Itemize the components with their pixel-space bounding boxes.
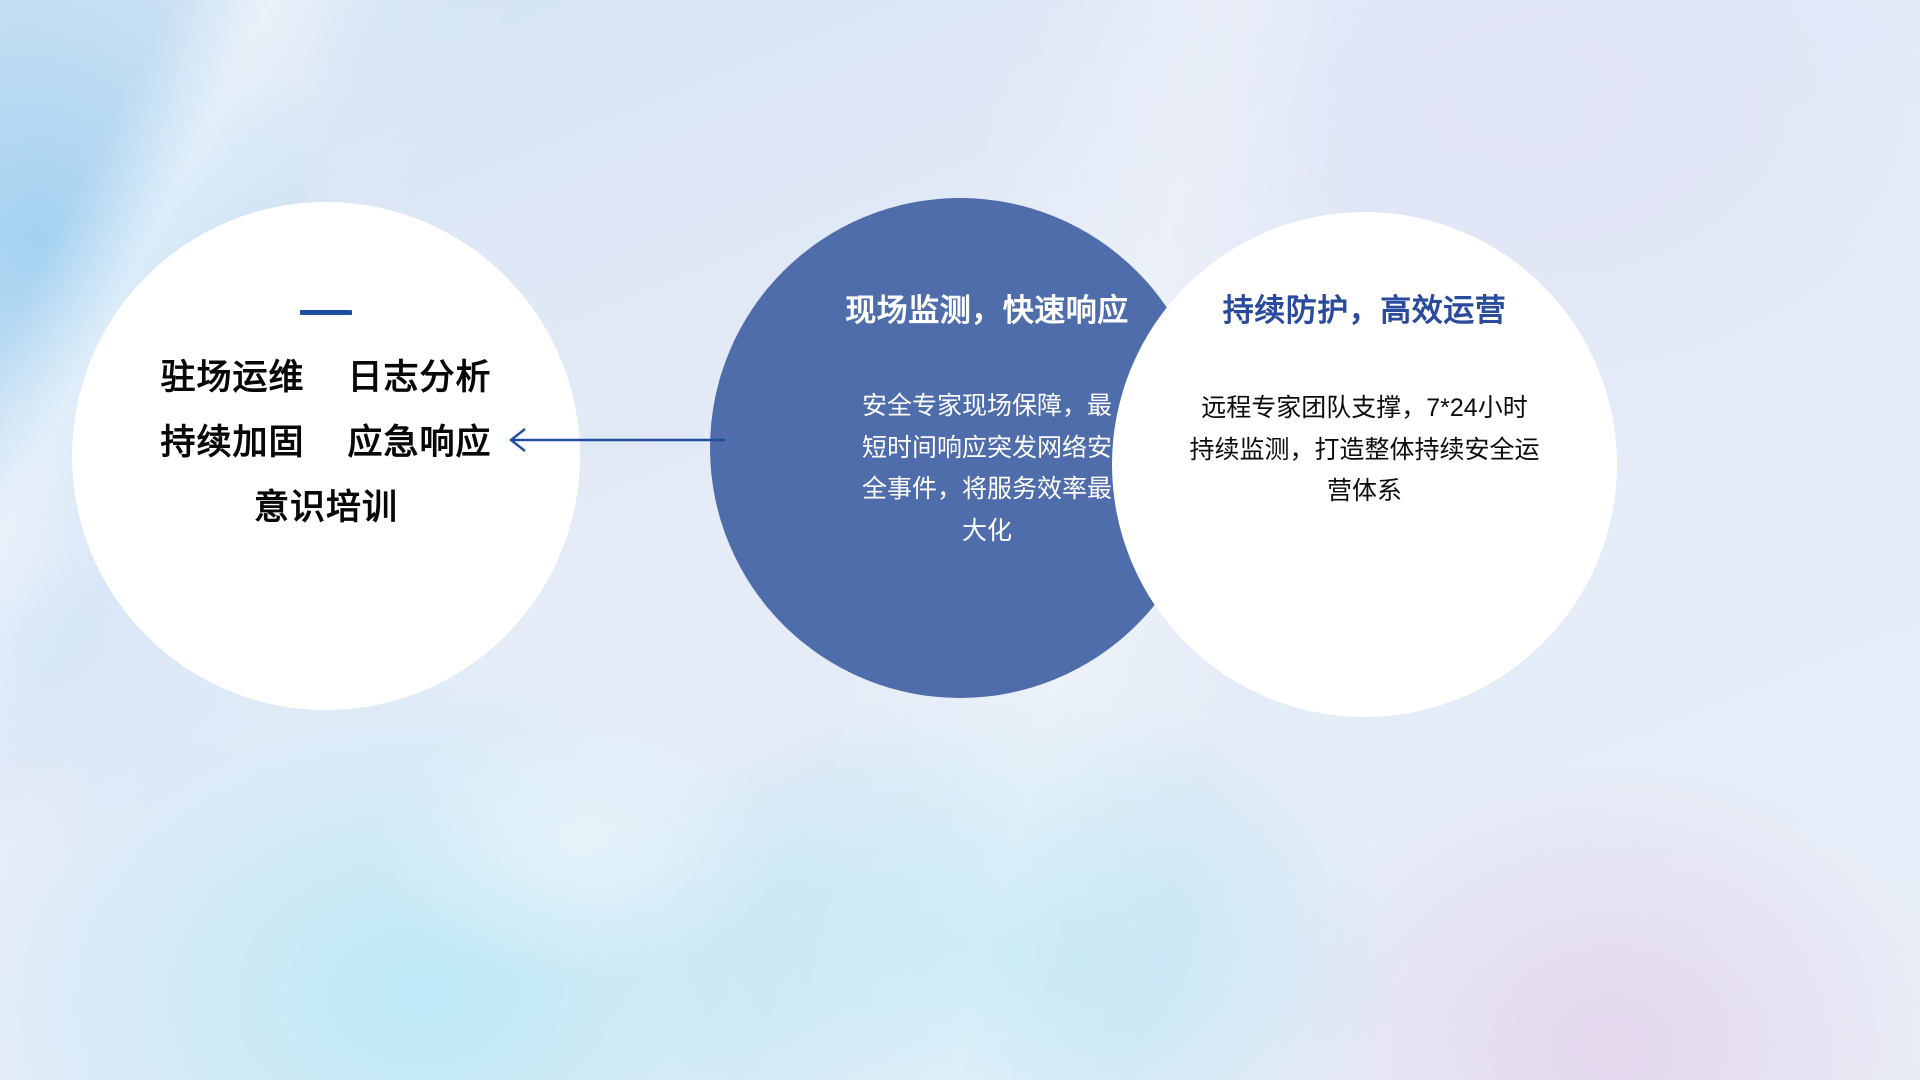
left-pointing-arrow [495,418,725,462]
capability-line-3: 意识培训 [254,490,398,525]
continuous-protection-title: 持续防护，高效运营 [1223,294,1507,328]
continuous-protection-body: 远程专家团队支撑，7*24小时持续监测，打造整体持续安全运营体系 [1190,388,1540,513]
capability-line-2: 持续加固 应急响应 [161,425,492,460]
onsite-monitoring-title: 现场监测，快速响应 [845,294,1129,328]
blue-dash-divider-icon [300,310,352,315]
capability-line-1: 驻场运维 日志分析 [161,360,492,395]
onsite-monitoring-body: 安全专家现场保障，最短时间响应突发网络安全事件，将服务效率最大化 [853,386,1121,552]
circle-content-continuous-protection: 持续防护，高效运营 远程专家团队支撑，7*24小时持续监测，打造整体持续安全运营… [1112,212,1617,717]
